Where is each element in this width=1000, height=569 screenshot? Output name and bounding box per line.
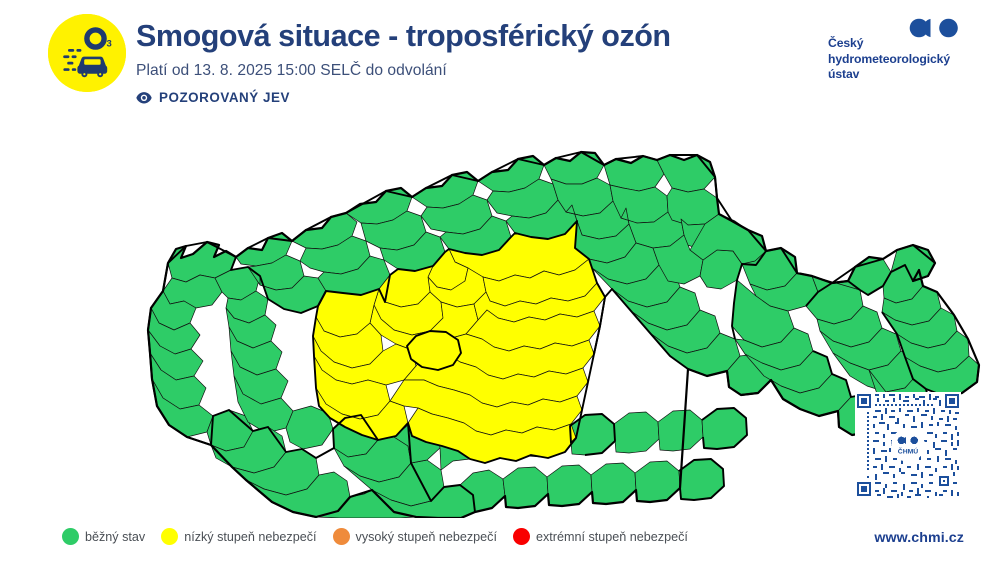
orange-dot: [333, 528, 350, 545]
chmi-logo: Český hydrometeorologický ústav: [800, 14, 982, 92]
chmi-logo-line1: Český: [828, 36, 950, 52]
legend-label-normal: běžný stav: [85, 530, 145, 544]
page-title: Smogová situace - troposférický ozón: [136, 20, 796, 53]
title-block: Smogová situace - troposférický ozón Pla…: [136, 20, 796, 106]
legend-item-normal[interactable]: běžný stav: [62, 528, 145, 545]
legend-item-low[interactable]: nízký stupeň nebezpečí: [161, 528, 316, 545]
legend-item-extreme[interactable]: extrémní stupeň nebezpečí: [513, 528, 688, 545]
ozone-car-smog-icon: 3: [48, 14, 126, 92]
legend-label-high: vysoký stupeň nebezpečí: [356, 530, 497, 544]
legend-label-low: nízký stupeň nebezpečí: [184, 530, 316, 544]
legend-item-high[interactable]: vysoký stupeň nebezpečí: [333, 528, 497, 545]
svg-text:3: 3: [107, 39, 112, 50]
qr-code[interactable]: ČHMÚ: [855, 392, 961, 498]
eye-icon: [136, 90, 152, 106]
page-header: 3 Smogová situace - troposférický ozón P: [0, 0, 1000, 128]
chmi-logo-line3: ústav: [828, 67, 950, 83]
green-dot: [62, 528, 79, 545]
red-dot: [513, 528, 530, 545]
legend: běžný stav nízký stupeň nebezpečí vysoký…: [62, 528, 688, 545]
phenomenon-label: POZOROVANÝ JEV: [159, 90, 290, 105]
site-url-link[interactable]: www.chmi.cz: [874, 530, 964, 546]
czech-republic-districts-map[interactable]: [0, 118, 1000, 518]
chmu-circles-mark: [908, 18, 964, 38]
legend-label-extreme: extrémní stupeň nebezpečí: [536, 530, 688, 544]
chmi-logo-text: Český hydrometeorologický ústav: [828, 36, 950, 83]
validity-text: Platí od 13. 8. 2025 15:00 SELČ do odvol…: [136, 62, 796, 80]
yellow-dot: [161, 528, 178, 545]
phenomenon-row: POZOROVANÝ JEV: [136, 90, 796, 106]
chmi-logo-line2: hydrometeorologický: [828, 52, 950, 68]
qr-center-label: ČHMÚ: [898, 447, 918, 456]
